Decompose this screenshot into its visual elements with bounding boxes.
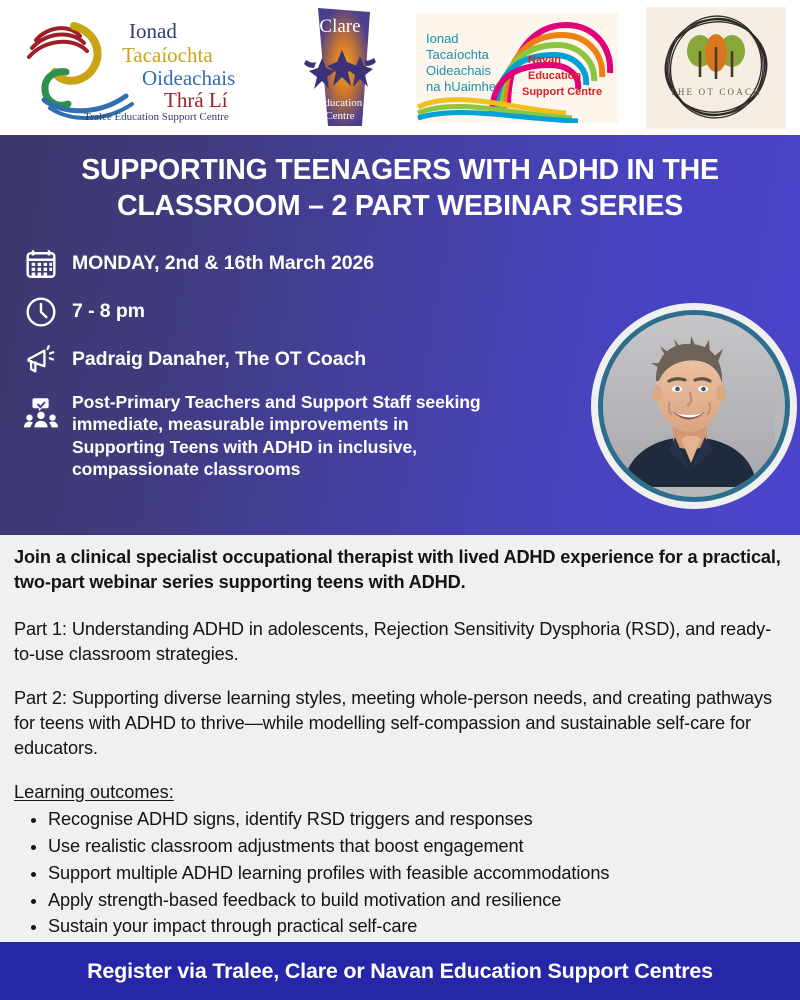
list-item: Use realistic classroom adjustments that…: [48, 833, 786, 860]
registration-footer-bar: Register via Tralee, Clare or Navan Educ…: [0, 942, 800, 1000]
tralee-line-1: Ionad: [129, 19, 177, 43]
megaphone-icon: [18, 343, 64, 377]
navan-irish-2: Tacaíochta: [426, 47, 490, 62]
intro-paragraph: Join a clinical specialist occupational …: [14, 545, 786, 595]
speaker-portrait-avatar: [598, 310, 790, 502]
ot-coach-label: THE OT COACH: [670, 87, 762, 97]
tralee-line-3: Oideachais: [142, 66, 235, 90]
event-time-text: 7 - 8 pm: [64, 300, 145, 323]
tralee-line-2: Tacaíochta: [122, 43, 213, 67]
clare-education-centre-logo: Clare Education Centre: [292, 6, 388, 130]
speaker-portrait-image: [603, 315, 775, 487]
navan-eng-1: Navan: [528, 54, 561, 66]
learning-outcomes-heading: Learning outcomes:: [14, 781, 786, 805]
event-detail-date: MONDAY, 2nd & 16th March 2026: [18, 247, 800, 281]
event-audience-text: Post-Primary Teachers and Support Staff …: [64, 391, 502, 480]
navan-logo-artwork: Ionad Tacaíochta Oideachais na hUaimhe N…: [416, 13, 618, 123]
navan-irish-1: Ionad: [426, 31, 459, 46]
page-title: SUPPORTING TEENAGERS WITH ADHD IN THE CL…: [0, 135, 800, 225]
audience-group-icon: [18, 391, 64, 431]
clare-sub-1: Education: [318, 97, 363, 109]
list-item: Sustain your impact through practical se…: [48, 913, 786, 940]
part-2-paragraph: Part 2: Supporting diverse learning styl…: [14, 686, 786, 760]
tralee-education-support-centre-logo: Ionad Tacaíochta Oideachais Thrá Lí Tral…: [14, 12, 264, 124]
navan-eng-3: Support Centre: [522, 86, 602, 98]
ot-coach-logo-artwork: THE OT COACH: [646, 7, 786, 129]
tralee-tagline: Tralee Education Support Centre: [84, 111, 229, 123]
list-item: Support multiple ADHD learning profiles …: [48, 860, 786, 887]
event-date-text: MONDAY, 2nd & 16th March 2026: [64, 252, 374, 275]
list-item: Recognise ADHD signs, identify RSD trigg…: [48, 806, 786, 833]
part-1-paragraph: Part 1: Understanding ADHD in adolescent…: [14, 617, 786, 667]
list-item: Apply strength-based feedback to build m…: [48, 887, 786, 914]
registration-footer-text: Register via Tralee, Clare or Navan Educ…: [87, 959, 713, 984]
poster-body-content: Join a clinical specialist occupational …: [0, 545, 800, 940]
partner-logo-strip: Ionad Tacaíochta Oideachais Thrá Lí Tral…: [0, 0, 800, 135]
calendar-icon: [18, 247, 64, 281]
the-ot-coach-logo: THE OT COACH: [646, 7, 786, 129]
clare-sub-2: Centre: [325, 110, 354, 122]
navan-eng-2: Education: [528, 70, 581, 82]
navan-irish-4: na hUaimhe: [426, 79, 496, 94]
clare-title: Clare: [319, 16, 360, 37]
navan-education-support-centre-logo: Ionad Tacaíochta Oideachais na hUaimhe N…: [416, 13, 618, 123]
clare-logo-artwork: Clare Education Centre: [292, 6, 388, 130]
tralee-line-4: Thrá Lí: [164, 88, 228, 112]
event-speaker-text: Padraig Danaher, The OT Coach: [64, 348, 366, 371]
tralee-logo-artwork: Ionad Tacaíochta Oideachais Thrá Lí Tral…: [14, 12, 264, 124]
learning-outcomes-list: Recognise ADHD signs, identify RSD trigg…: [14, 806, 786, 940]
navan-irish-3: Oideachais: [426, 63, 492, 78]
clock-icon: [18, 295, 64, 329]
